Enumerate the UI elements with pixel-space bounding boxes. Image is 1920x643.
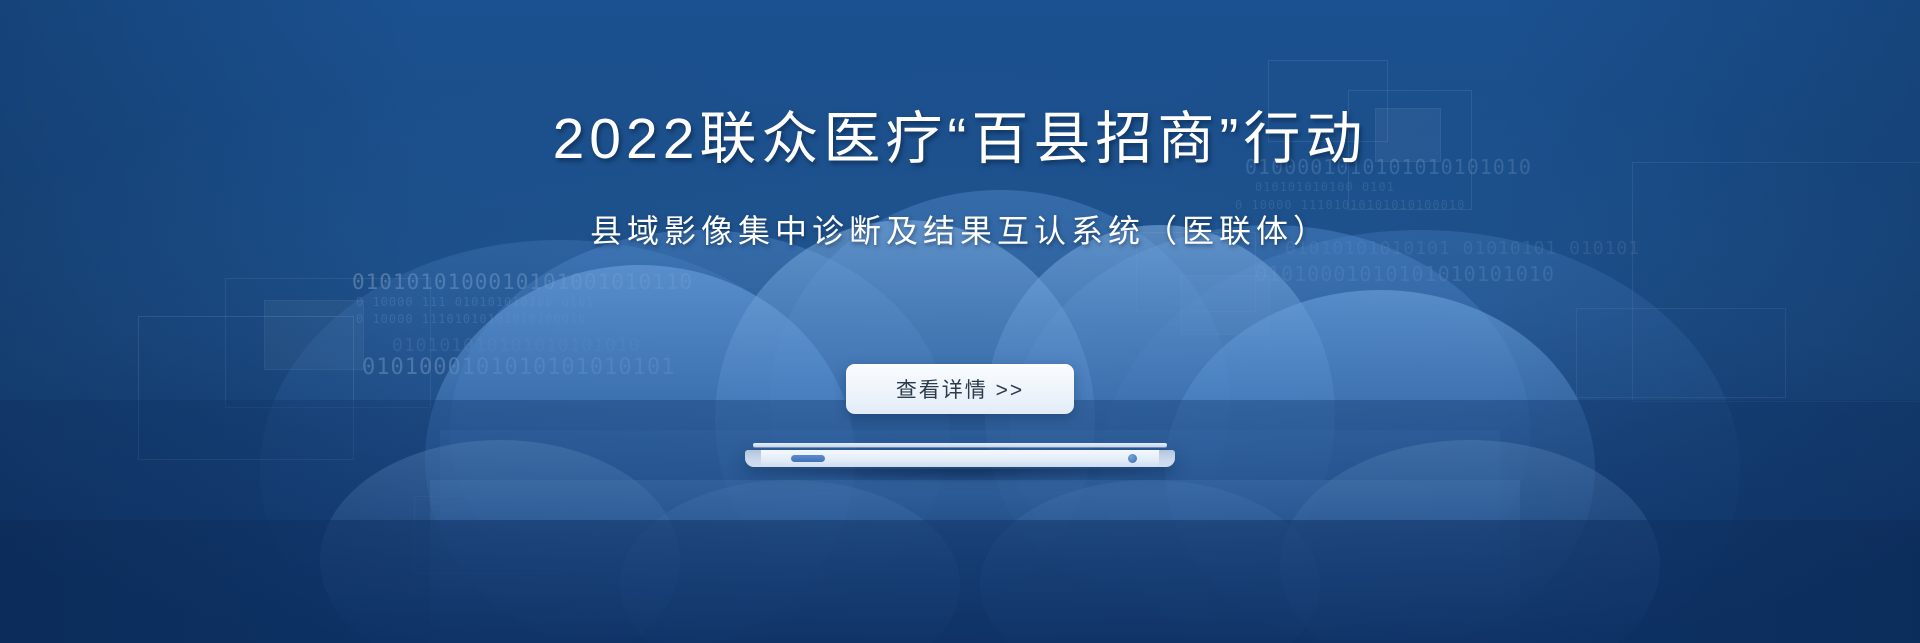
banner-content: 2022联众医疗“百县招商”行动 县域影像集中诊断及结果互认系统（医联体） 查看… [0, 0, 1920, 643]
laptop-device-illustration [745, 443, 1175, 477]
cta-container: 查看详情 >> [0, 364, 1920, 414]
view-details-button[interactable]: 查看详情 >> [846, 364, 1074, 414]
banner-subtitle: 县域影像集中诊断及结果互认系统（医联体） [0, 212, 1920, 250]
promo-banner: 0101010100010101001010110 0 10000 111 01… [0, 0, 1920, 643]
device-shadow [769, 469, 1151, 483]
device-speaker-icon [791, 455, 825, 462]
device-indicator-dot [1128, 454, 1137, 463]
device-screen-edge [753, 443, 1167, 447]
banner-title: 2022联众医疗“百县招商”行动 [0, 108, 1920, 172]
